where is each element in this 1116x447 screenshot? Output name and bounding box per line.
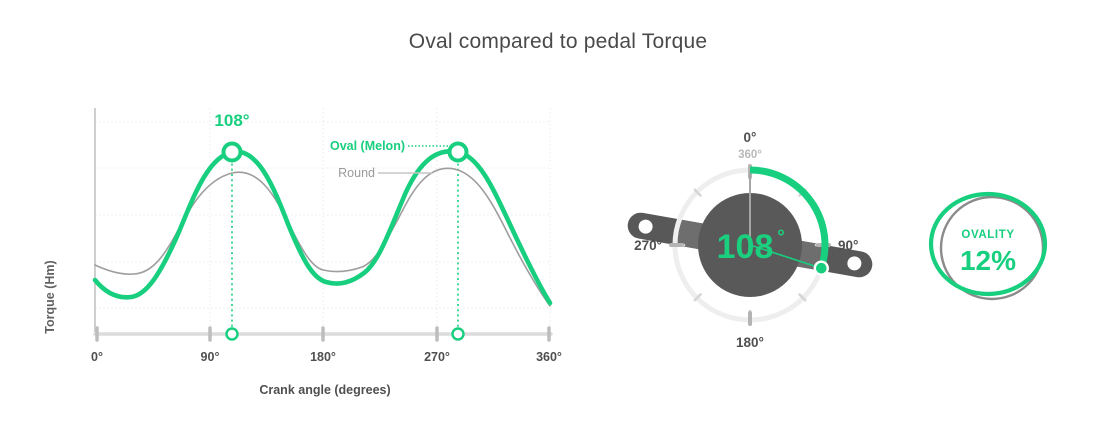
axis-marker-2[interactable]: [453, 329, 464, 340]
dial-pointer-dot[interactable]: [815, 262, 828, 275]
series-oval-line: [95, 151, 550, 303]
x-tick-label-90: 90°: [201, 350, 220, 364]
legend-label-oval: Oval (Melon): [330, 139, 405, 153]
chart-svg: 108° Oval (Melon) Round 0° 90° 180° 270°…: [0, 100, 600, 400]
x-tick-label-0: 0°: [91, 350, 103, 364]
dial-label-top: 0°: [744, 130, 757, 145]
axis-marker-1[interactable]: [227, 329, 238, 340]
page-title: Oval compared to pedal Torque: [0, 30, 1116, 54]
y-axis-title: Torque (Hm): [43, 237, 57, 357]
x-tick-label-270: 270°: [424, 350, 450, 364]
chart-legend: Oval (Melon) Round: [330, 139, 452, 180]
legend-label-round: Round: [338, 166, 375, 180]
dial-label-right: 90°: [838, 238, 858, 253]
peak-marker-1[interactable]: [224, 144, 241, 161]
peak-angle-label: 108°: [214, 111, 249, 130]
ovality-gauge: OVALITY 12%: [900, 180, 1100, 320]
torque-chart: Torque (Hm) Crank angle (degrees): [0, 100, 600, 420]
ovality-svg: OVALITY 12%: [900, 180, 1080, 320]
dial-center-value: 108: [717, 228, 774, 266]
dial-label-top-alt: 360°: [738, 149, 762, 161]
dial-label-left: 270°: [634, 238, 662, 253]
crank-angle-dial: 108 ° 0° 360° 90° 180° 270°: [600, 125, 900, 365]
x-tick-label-360: 360°: [536, 350, 562, 364]
ovality-label: OVALITY: [961, 229, 1014, 241]
ovality-ellipse: [931, 194, 1045, 294]
x-axis-title: Crank angle (degrees): [95, 383, 555, 397]
dial-label-bottom: 180°: [736, 335, 764, 350]
x-tick-label-180: 180°: [310, 350, 336, 364]
dial-center-degree-symbol: °: [777, 227, 785, 248]
peak-marker-2[interactable]: [450, 144, 467, 161]
ovality-value: 12%: [960, 245, 1016, 276]
dial-svg: 108 ° 0° 360° 90° 180° 270°: [600, 125, 900, 365]
